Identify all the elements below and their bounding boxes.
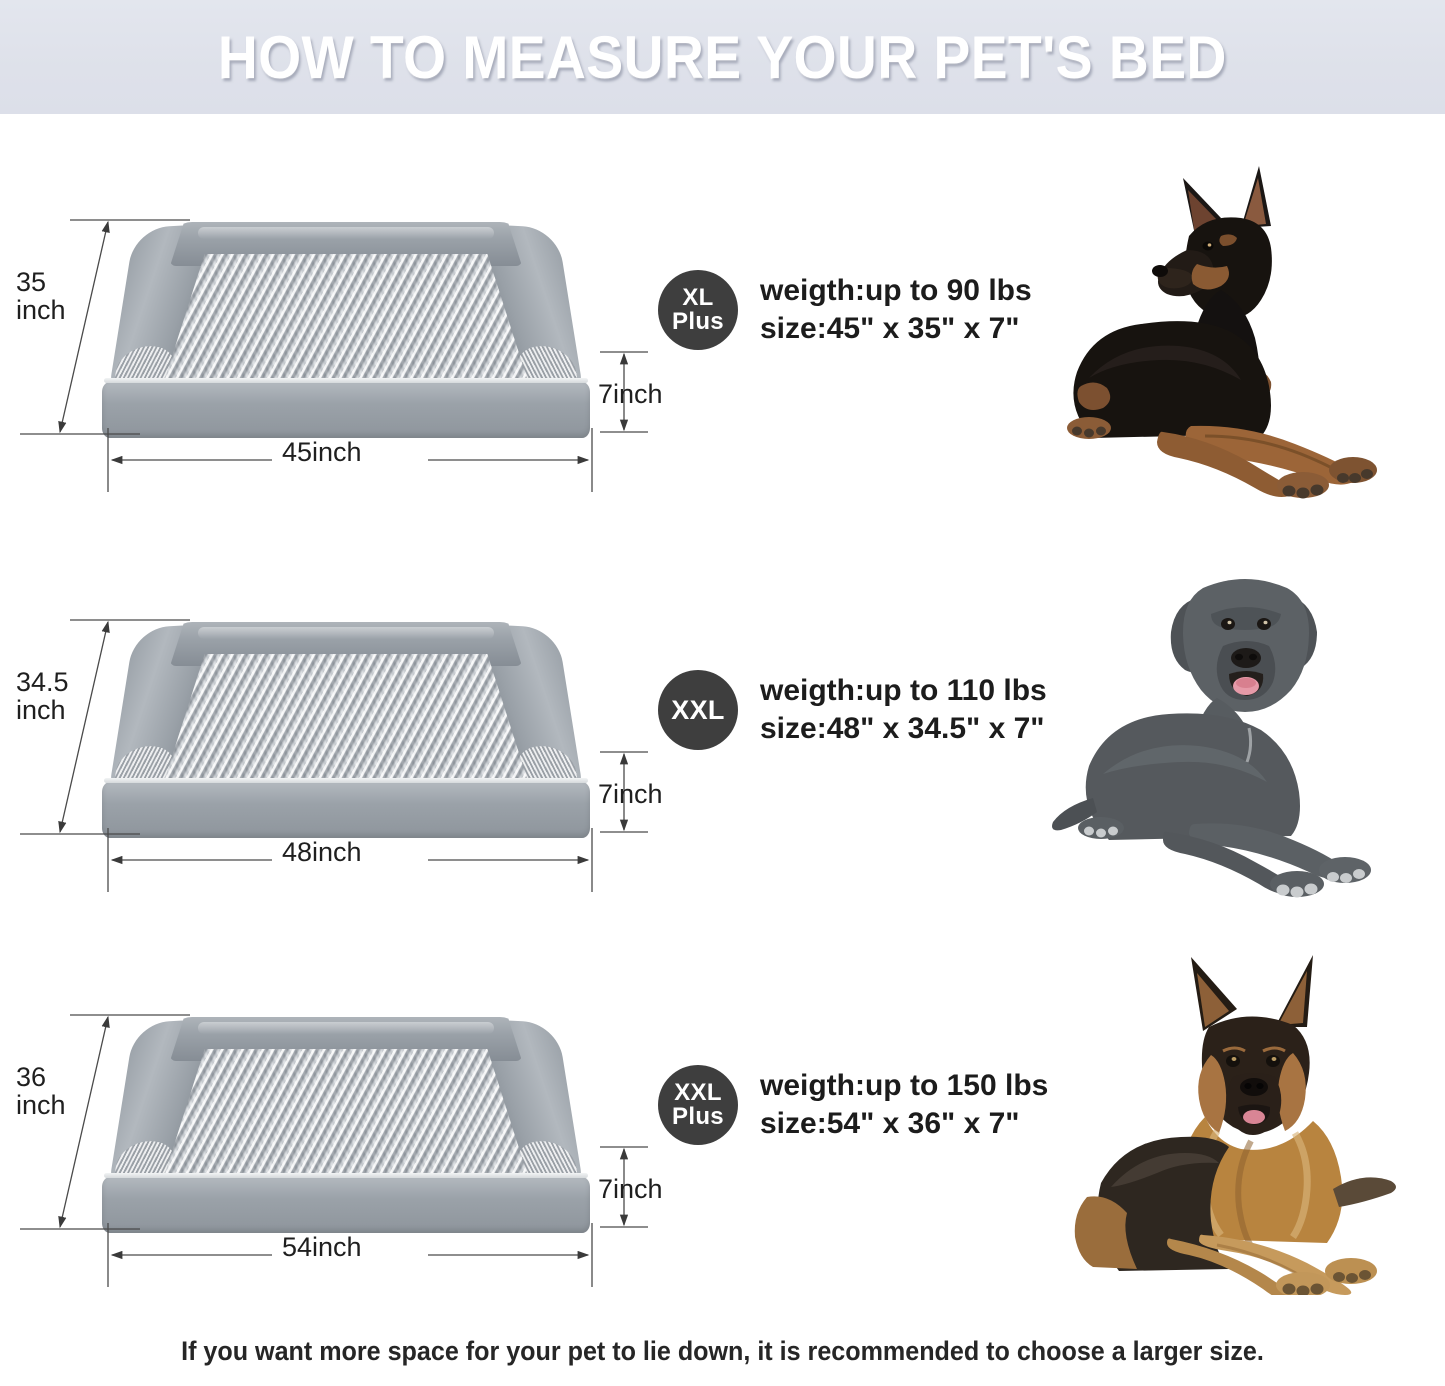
size-spec-text: weigth:up to 90 lbs size:45" x 35" x 7" [760, 272, 1032, 349]
header-banner: HOW TO MEASURE YOUR PET'S BED [0, 0, 1445, 114]
weight-label: weigth:up to 90 lbs [760, 272, 1032, 310]
page-title: HOW TO MEASURE YOUR PET'S BED [218, 23, 1227, 92]
size-label: size:45" x 35" x 7" [760, 310, 1032, 348]
size-spec-block: XXL weigth:up to 110 lbs size:48" x 34.5… [658, 670, 1047, 750]
dimension-height-label: 7inch [598, 380, 663, 408]
dog-photo-great-dane [1045, 540, 1445, 900]
bed-diagram: 36 inch 54inch 7inch [0, 935, 700, 1295]
size-badge-line-1: XXL [674, 1081, 722, 1105]
dimension-depth-label: 34.5 inch [16, 668, 69, 725]
weight-label: weigth:up to 150 lbs [760, 1067, 1048, 1105]
bed-diagram: 35 inch 45inch 7inch [0, 140, 700, 500]
size-spec-text: weigth:up to 110 lbs size:48" x 34.5" x … [760, 672, 1047, 749]
size-label: size:48" x 34.5" x 7" [760, 710, 1047, 748]
dimension-width-label: 45inch [282, 438, 362, 466]
dog-photo-doberman-pinscher [1045, 140, 1445, 500]
weight-label: weigth:up to 110 lbs [760, 672, 1047, 710]
dimension-height-label: 7inch [598, 1175, 663, 1203]
size-row-xxl: 34.5 inch 48inch 7inch XXL weigth:up to … [0, 540, 1445, 940]
size-badge-xxl-plus: XXL Plus [658, 1065, 738, 1145]
footer-recommendation: If you want more space for your pet to l… [51, 1336, 1395, 1367]
size-badge-line-2: Plus [672, 1105, 724, 1129]
size-badge-xl-plus: XL Plus [658, 270, 738, 350]
size-badge-line-1: XL [682, 286, 713, 310]
dimension-width-label: 48inch [282, 838, 362, 866]
size-row-xl-plus: 35 inch 45inch 7inch XL Plus weigth:up t… [0, 140, 1445, 540]
size-spec-text: weigth:up to 150 lbs size:54" x 36" x 7" [760, 1067, 1048, 1144]
size-badge-line-1: XXL [671, 697, 724, 724]
size-badge-xxl: XXL [658, 670, 738, 750]
size-row-xxl-plus: 36 inch 54inch 7inch XXL Plus weigth:up … [0, 935, 1445, 1335]
dimension-depth-label: 36 inch [16, 1063, 66, 1120]
bed-diagram: 34.5 inch 48inch 7inch [0, 540, 700, 900]
size-badge-line-2: Plus [672, 310, 724, 334]
size-label: size:54" x 36" x 7" [760, 1105, 1048, 1143]
size-spec-block: XL Plus weigth:up to 90 lbs size:45" x 3… [658, 270, 1032, 350]
dimension-height-label: 7inch [598, 780, 663, 808]
dimension-width-label: 54inch [282, 1233, 362, 1261]
size-spec-block: XXL Plus weigth:up to 150 lbs size:54" x… [658, 1065, 1048, 1145]
dog-photo-german-shepherd [1045, 935, 1445, 1295]
dimension-depth-label: 35 inch [16, 268, 66, 325]
